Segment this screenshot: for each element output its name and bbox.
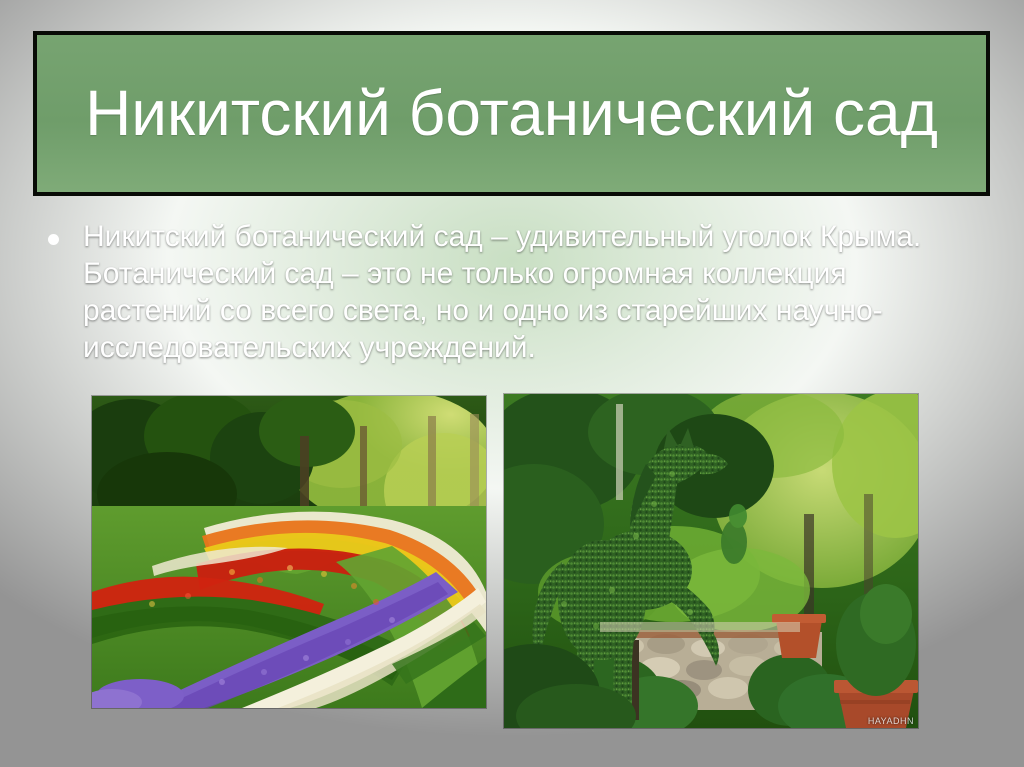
bullet-paragraph: Никитский ботанический сад – удивительны…	[83, 218, 963, 366]
page-title: Никитский ботанический сад	[85, 80, 938, 147]
presentation-slide: Никитский ботанический сад Никитский бот…	[0, 0, 1024, 767]
slide-title-band: Никитский ботанический сад	[33, 31, 990, 196]
topiary-horse-photo: HAYADHN	[504, 394, 918, 728]
photo-watermark: HAYADHN	[868, 716, 914, 726]
bullet-dot-icon	[48, 234, 59, 245]
topiary-horse-illustration	[504, 394, 918, 728]
flower-garden-photo	[92, 396, 486, 708]
bullet-list: Никитский ботанический сад – удивительны…	[40, 218, 984, 366]
flower-garden-illustration	[92, 396, 486, 708]
